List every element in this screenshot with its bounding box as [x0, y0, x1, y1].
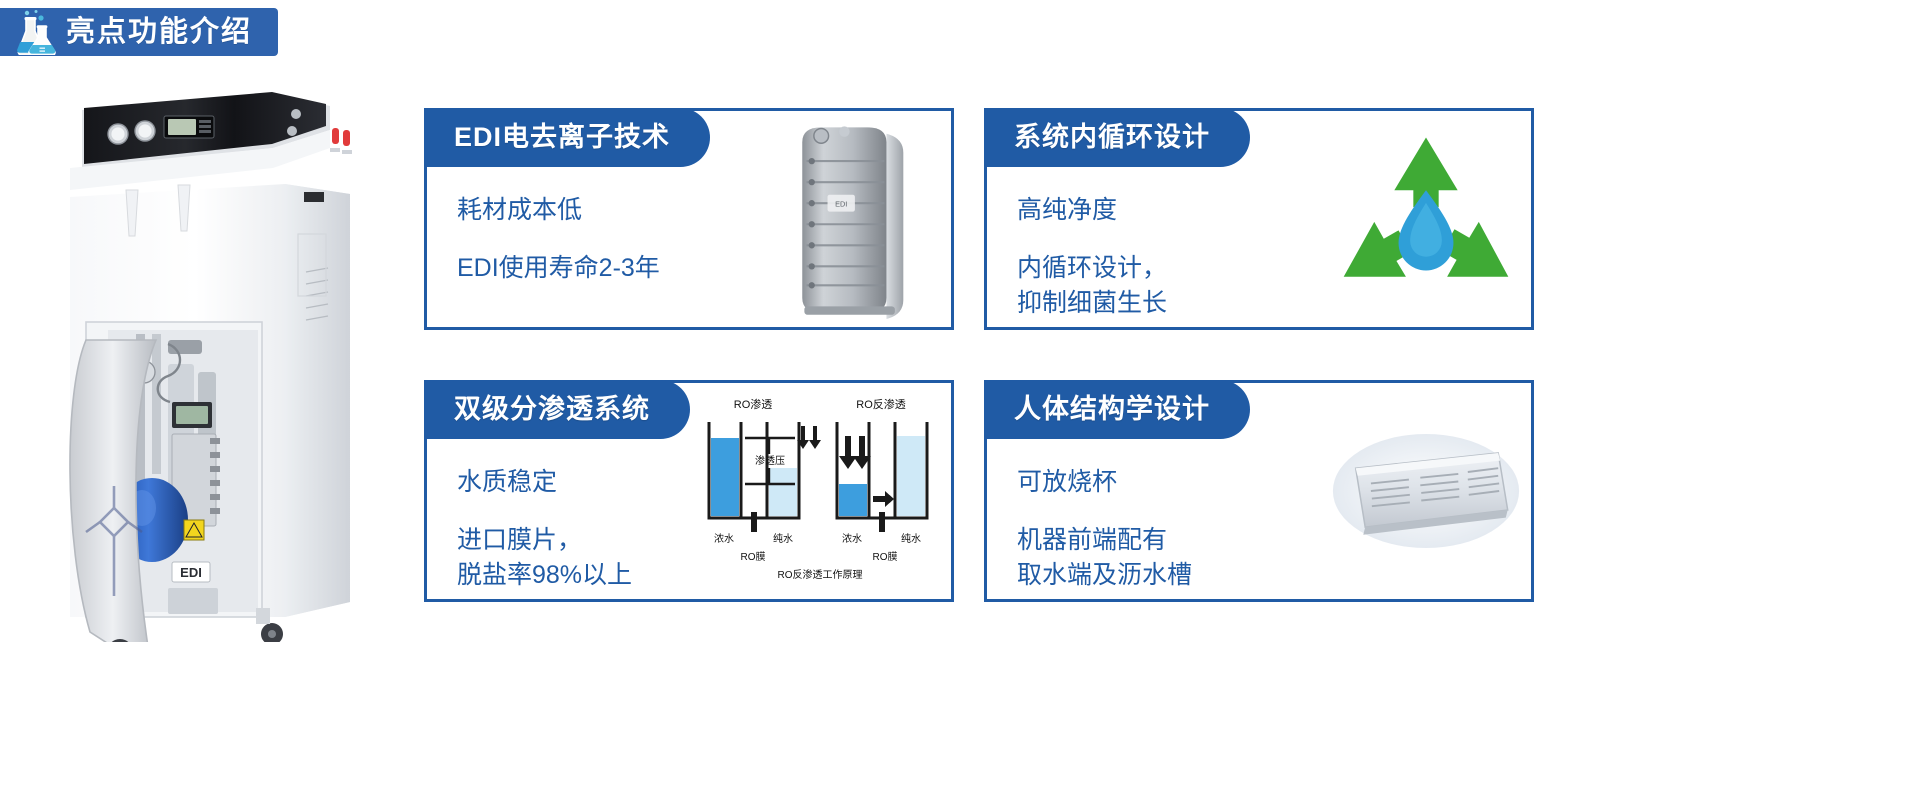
ro-left-membrane-label: RO膜 — [741, 551, 766, 563]
feature-card-dual-ro-title: 双级分渗透系统 — [424, 380, 690, 439]
feature-card-edi-title: EDI电去离子技术 — [424, 108, 710, 167]
feature-bullet: 机器前端配有 取水端及沥水槽 — [1017, 523, 1351, 594]
svg-text:EDI: EDI — [835, 199, 847, 208]
edi-module-photo: EDI — [771, 119, 941, 319]
flask-icon — [14, 9, 58, 55]
ro-right-label-pure: 纯水 — [901, 532, 921, 545]
feature-bullet: 高纯净度 — [1017, 193, 1351, 229]
feature-card-edi-body: 耗材成本低 EDI使用寿命2-3年 — [457, 193, 771, 286]
ro-right-title: RO反渗透 — [856, 397, 906, 411]
feature-card-ergonomic-title: 人体结构学设计 — [984, 380, 1250, 439]
feature-bullet: 可放烧杯 — [1017, 465, 1351, 501]
ro-right-membrane-label: RO膜 — [873, 551, 898, 563]
page-root: 亮点功能介绍 — [0, 0, 1920, 800]
feature-bullet: EDI使用寿命2-3年 — [457, 251, 771, 287]
feature-card-dual-ro[interactable]: 双级分渗透系统 水质稳定 进口膜片， 脱盐率98%以上 .rolbl{font-… — [424, 380, 954, 602]
svg-text:EDI: EDI — [180, 565, 202, 580]
feature-card-inner-cycle-body: 高纯净度 内循环设计， 抑制细菌生长 — [1017, 193, 1351, 322]
section-header-title: 亮点功能介绍 — [66, 18, 252, 47]
ro-left-label-concentrate: 浓水 — [714, 533, 734, 545]
feature-bullet: 内循环设计， 抑制细菌生长 — [1017, 251, 1351, 322]
feature-card-inner-cycle-title: 系统内循环设计 — [984, 108, 1250, 167]
feature-card-edi[interactable]: EDI电去离子技术 耗材成本低 EDI使用寿命2-3年 — [424, 108, 954, 330]
ro-right-label-concentrate: 浓水 — [842, 533, 862, 545]
ro-principle-diagram: .rolbl{font-family:"Liberation Sans","De… — [695, 389, 945, 595]
ro-left-label-pure: 纯水 — [773, 532, 793, 545]
drip-tray-photo — [1331, 391, 1521, 591]
feature-card-ergonomic[interactable]: 人体结构学设计 可放烧杯 机器前端配有 取水端及沥水槽 — [984, 380, 1534, 602]
ro-left-title: RO渗透 — [734, 397, 773, 411]
recycle-water-icon — [1331, 119, 1521, 319]
ro-diagram-caption: RO反渗透工作原理 — [778, 568, 863, 581]
feature-card-grid: EDI电去离子技术 耗材成本低 EDI使用寿命2-3年 — [424, 108, 1844, 628]
feature-bullet: 耗材成本低 — [457, 193, 771, 229]
section-header-badge: 亮点功能介绍 — [0, 8, 278, 56]
product-image: EDI — [60, 72, 380, 642]
feature-card-inner-cycle[interactable]: 系统内循环设计 高纯净度 内循环设计， 抑制细菌生长 — [984, 108, 1534, 330]
feature-card-ergonomic-body: 可放烧杯 机器前端配有 取水端及沥水槽 — [1017, 465, 1351, 594]
svg-text:渗透压: 渗透压 — [755, 454, 785, 467]
